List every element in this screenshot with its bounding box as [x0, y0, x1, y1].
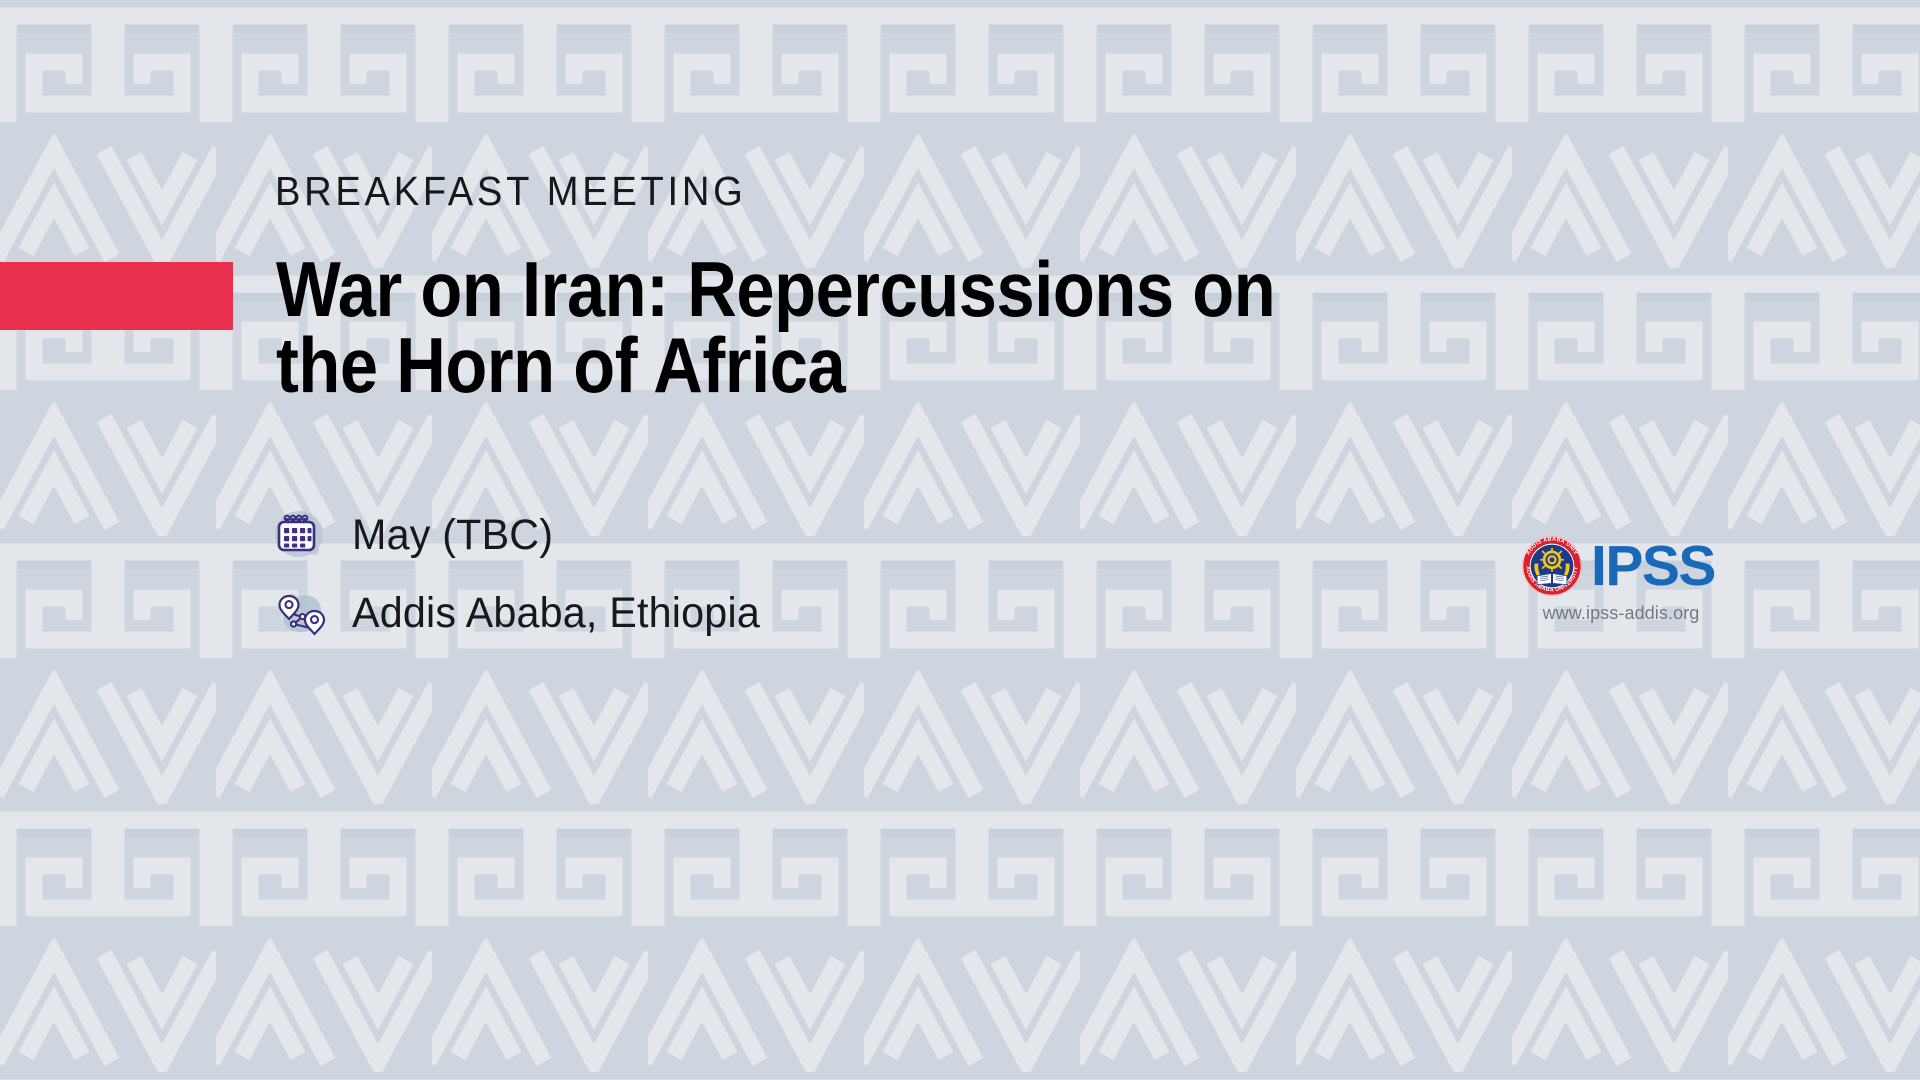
addis-ababa-university-seal-icon: ADDIS ABABA UNIV ADDIS ABABA UNIVERSITY [1521, 535, 1583, 597]
ipss-logo: ADDIS ABABA UNIV ADDIS ABABA UNIVERSITY [1521, 535, 1721, 624]
page-title: War on Iran: Repercussions on the Horn o… [276, 252, 1297, 403]
ipss-logo-main: ADDIS ABABA UNIV ADDIS ABABA UNIVERSITY [1521, 535, 1721, 597]
eyebrow-label: BREAKFAST MEETING [275, 168, 746, 215]
page-title-line-1: War on Iran: Repercussions on [276, 252, 1297, 328]
event-location-label: Addis Ababa, Ethiopia [352, 589, 760, 638]
event-date-label: May (TBC) [352, 511, 553, 560]
announcement-canvas: BREAKFAST MEETING War on Iran: Repercuss… [0, 0, 1920, 1080]
page-title-line-2: the Horn of Africa [276, 328, 1297, 404]
ipss-wordmark: IPSS [1591, 538, 1715, 595]
event-meta: May (TBC) [268, 496, 777, 652]
event-location-row: Addis Ababa, Ethiopia [268, 574, 777, 652]
event-date-row: May (TBC) [268, 496, 777, 574]
content-layer: BREAKFAST MEETING War on Iran: Repercuss… [0, 0, 1920, 1080]
accent-bar [0, 262, 233, 330]
ipss-website-url: www.ipss-addis.org [1521, 603, 1721, 624]
calendar-icon [268, 503, 332, 567]
route-map-pin-icon [268, 581, 332, 645]
